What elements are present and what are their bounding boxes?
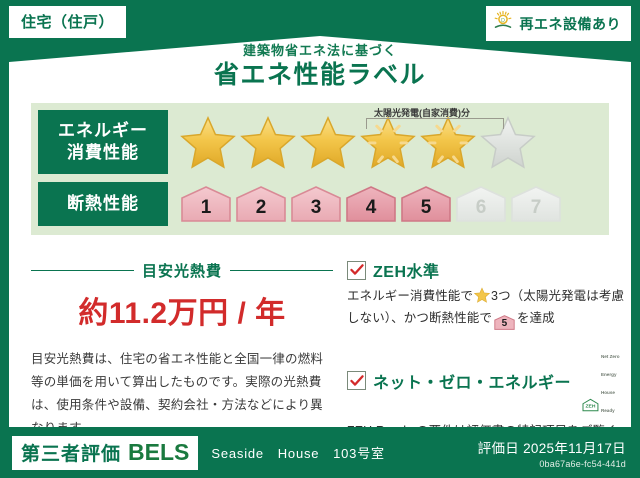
grade-number: 1 <box>201 197 212 224</box>
insulation-performance-label-key: 断熱性能 <box>38 182 168 226</box>
renewable-equipment-chip: D 再エネ設備あり <box>486 6 632 41</box>
grade-badge: 1 <box>180 184 232 224</box>
grade-badge: 3 <box>290 184 342 224</box>
renewable-chip-label: 再エネ設備あり <box>520 14 622 34</box>
cost-amount: 約11.2万円 / 年 <box>31 288 333 332</box>
evaluation-date: 評価日 2025年11月17日 <box>478 437 626 457</box>
inline-grade-number: 5 <box>494 314 515 333</box>
building-name: Seaside House 103号室 <box>211 443 384 462</box>
net-zero-checkbox[interactable] <box>347 371 366 390</box>
grade-number: 5 <box>421 197 432 224</box>
check-icon <box>350 264 364 276</box>
grade-badge-inactive: 7 <box>510 184 562 224</box>
energy-performance-label-key: エネルギー 消費性能 <box>38 110 168 174</box>
zeh-standard-checkbox[interactable] <box>347 261 366 280</box>
grade-number: 6 <box>476 197 487 224</box>
bels-brand: BELS <box>128 439 189 466</box>
cost-rule-left <box>31 270 134 271</box>
energy-performance-label: 住宅（住戸） D 再エネ設備あり 建築物省エネ法に <box>0 0 640 478</box>
certification-column: ZEH水準 エネルギー消費性能で3つ（太陽光発電は考慮しない）、かつ断熱性能で5… <box>333 258 630 421</box>
evaluation-info: 評価日 2025年11月17日 0ba67a6e-fc54-441d <box>478 437 626 469</box>
star-icon <box>300 115 356 169</box>
zeh-standard-header: ZEH水準 <box>347 258 630 282</box>
sun-icon: D <box>492 10 514 37</box>
grade-number: 3 <box>311 197 322 224</box>
energy-performance-row: エネルギー 消費性能 太陽光発電(自家消費)分 <box>31 109 609 175</box>
inline-grade-badge: 5 <box>494 314 515 331</box>
star-icon <box>180 115 236 169</box>
cost-column: 目安光熱費 約11.2万円 / 年 目安光熱費は、住宅の省エネ性能と全国一律の燃… <box>31 258 333 421</box>
footer-bar: 第三者評価 BELS Seaside House 103号室 評価日 2025年… <box>0 427 640 478</box>
title-block: 建築物省エネ法に基づく 省エネ性能ラベル <box>9 44 631 92</box>
star-icon-inline <box>474 287 490 303</box>
energy-key-line2: 消費性能 <box>38 142 168 164</box>
zeh-logo-subtext: Net Zero Energy House Ready <box>601 345 630 417</box>
grade-badge: 5 <box>400 184 452 224</box>
svg-text:ZEH: ZEH <box>586 404 596 410</box>
cost-rule-right <box>230 270 333 271</box>
performance-panel: エネルギー 消費性能 太陽光発電(自家消費)分 <box>31 103 609 235</box>
cost-heading-row: 目安光熱費 <box>31 260 333 281</box>
net-zero-header: ネット・ゼロ・エネルギー ZEH Net Zero Energy House R… <box>347 345 630 417</box>
insulation-performance-row: 断熱性能 1 <box>31 181 609 227</box>
title-subtitle: 建築物省エネ法に基づく <box>9 44 631 58</box>
energy-stars-area: 太陽光発電(自家消費)分 <box>168 109 609 175</box>
grade-number: 4 <box>366 197 377 224</box>
insulation-grades-area: 1 2 3 <box>168 181 609 227</box>
label-body-panel: 建築物省エネ法に基づく 省エネ性能ラベル エネルギー 消費性能 太陽光発電(自家… <box>9 36 631 427</box>
grade-badge: 4 <box>345 184 397 224</box>
bels-badge: 第三者評価 BELS <box>12 436 198 470</box>
zeh-standard-body: エネルギー消費性能で3つ（太陽光発電は考慮しない）、かつ断熱性能で5を達成 <box>347 286 630 331</box>
zeh-logo-sub-line1: Net Zero Energy House <box>601 354 620 395</box>
cost-heading: 目安光熱費 <box>142 260 222 281</box>
zeh-body-part1: エネルギー消費性能で <box>347 289 473 303</box>
zeh-logo-sub-line2: Ready <box>601 408 615 413</box>
grade-badge-inactive: 6 <box>455 184 507 224</box>
lower-content: 目安光熱費 約11.2万円 / 年 目安光熱費は、住宅の省エネ性能と全国一律の燃… <box>31 258 611 421</box>
grade-badge: 2 <box>235 184 287 224</box>
svg-text:D: D <box>501 18 505 24</box>
zeh-house-icon: ZEH <box>582 393 599 417</box>
grade-number: 2 <box>256 197 267 224</box>
page-title: 省エネ性能ラベル <box>9 60 631 91</box>
zeh-standard-title: ZEH水準 <box>373 258 440 282</box>
zeh-body-part3: を達成 <box>517 311 555 325</box>
check-icon <box>350 375 364 387</box>
net-zero-title: ネット・ゼロ・エネルギー <box>373 369 571 393</box>
energy-key-line1: エネルギー <box>38 120 168 142</box>
bels-prefix: 第三者評価 <box>21 439 121 466</box>
evaluation-id: 0ba67a6e-fc54-441d <box>478 459 626 469</box>
insulation-grade-scale: 1 2 3 <box>168 181 609 227</box>
star-icon <box>240 115 296 169</box>
solar-annotation-bracket <box>366 118 504 129</box>
zeh-ready-logo: ZEH Net Zero Energy House Ready <box>582 345 630 417</box>
grade-number: 7 <box>531 197 542 224</box>
category-chip: 住宅（住戸） <box>9 6 126 38</box>
zeh-standard-block: ZEH水準 エネルギー消費性能で3つ（太陽光発電は考慮しない）、かつ断熱性能で5… <box>347 258 630 331</box>
